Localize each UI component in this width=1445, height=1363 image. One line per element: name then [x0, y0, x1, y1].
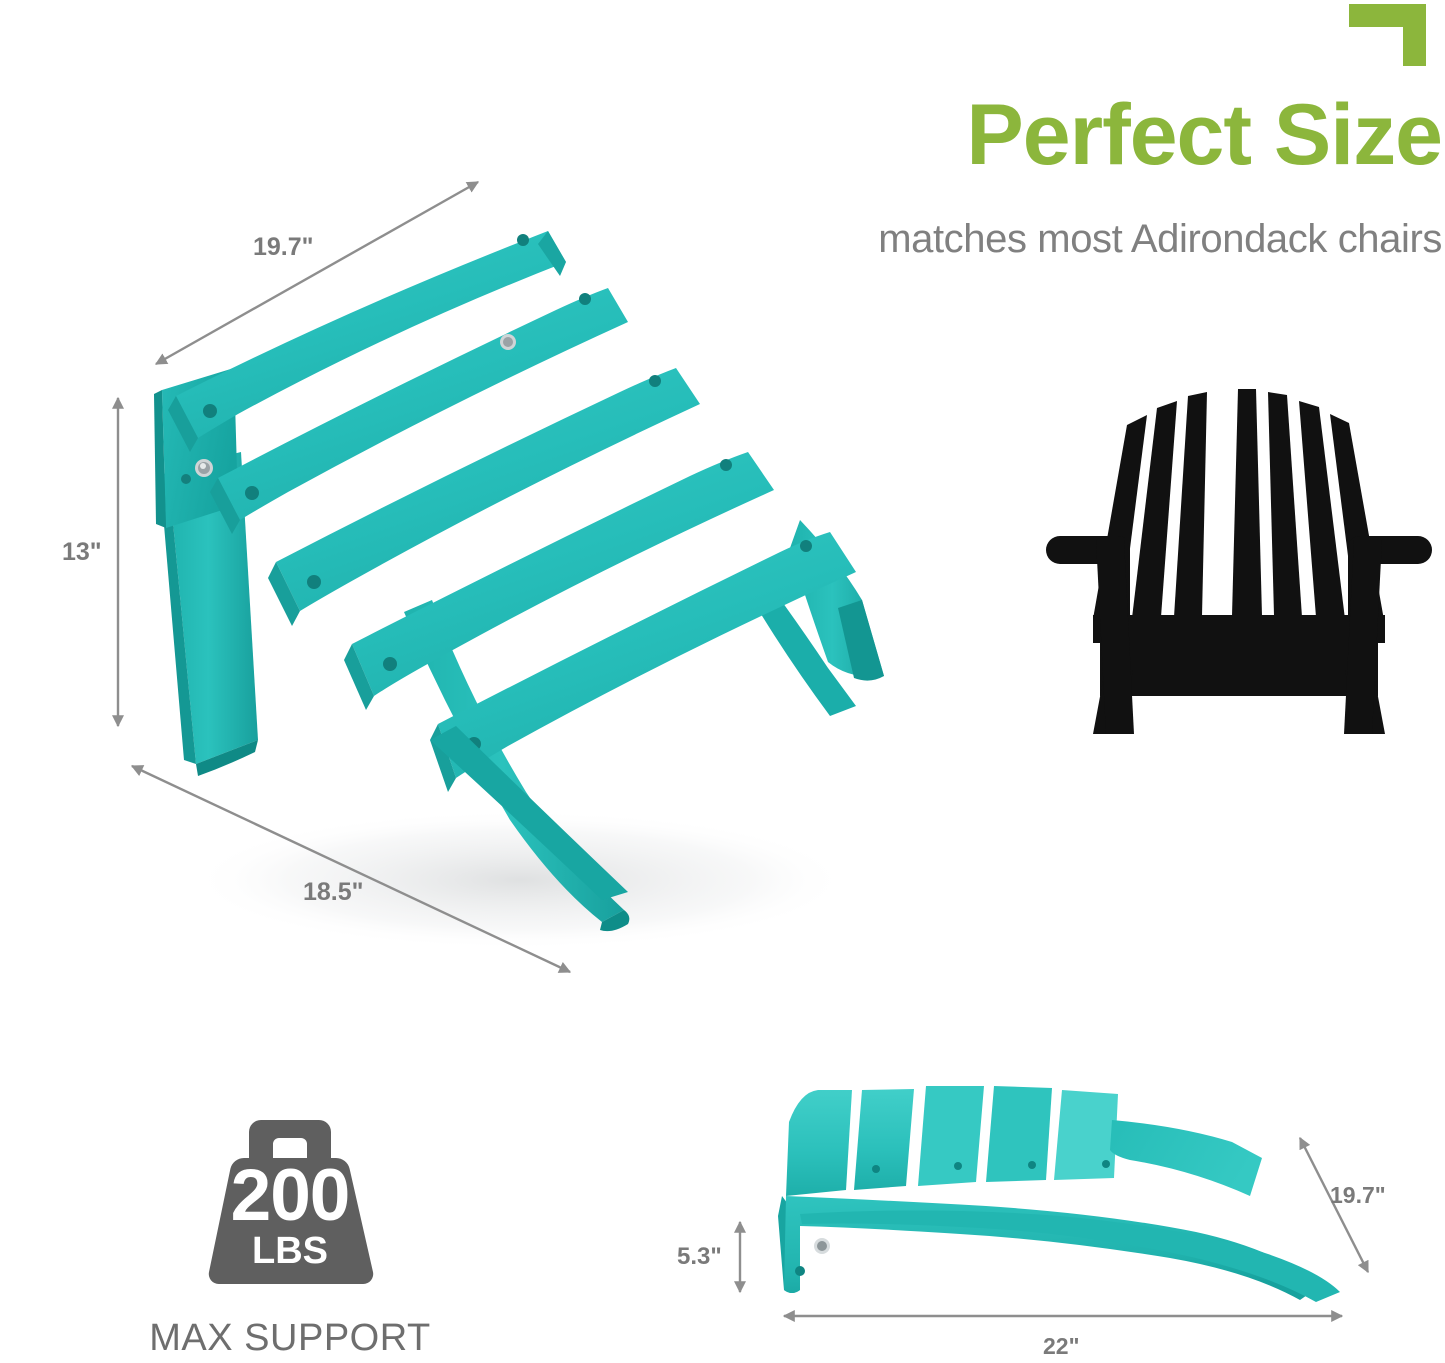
dimension-label-folded-depth: 19.7" — [1330, 1182, 1386, 1209]
dimension-label-folded-length: 22" — [1043, 1333, 1080, 1360]
dimension-label-folded-thickness: 5.3" — [677, 1243, 722, 1271]
infographic-canvas: Perfect Size matches most Adirondack cha… — [0, 0, 1445, 1363]
folded-dimension-arrows — [0, 0, 1445, 1363]
